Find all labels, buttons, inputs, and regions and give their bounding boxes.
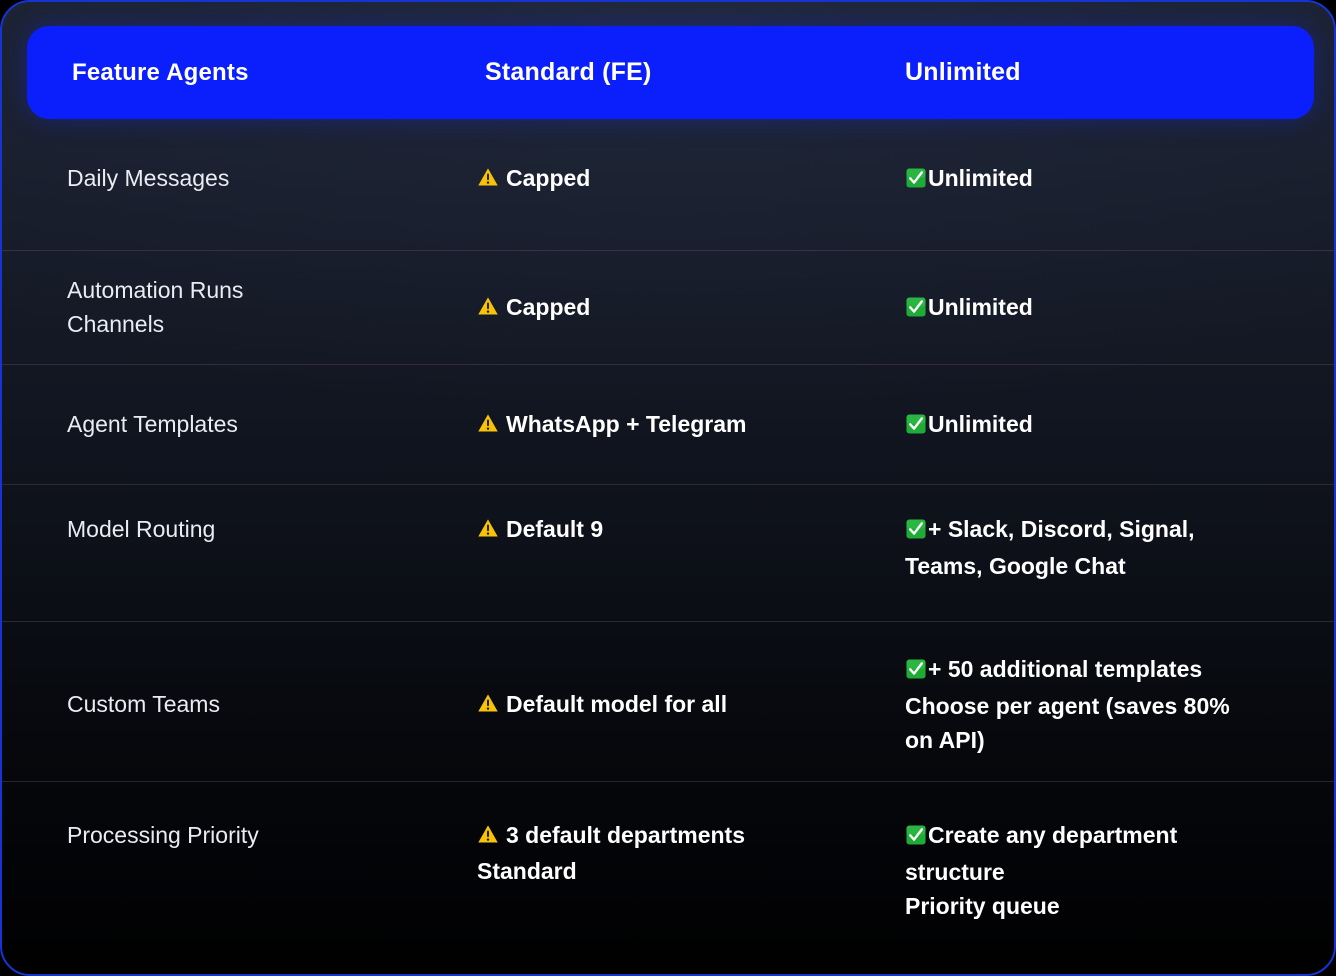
unlimited-plan-line: Create any department xyxy=(905,818,1305,855)
table-row: Daily MessagesCappedUnlimited xyxy=(2,119,1336,251)
standard-plan-line: Standard xyxy=(477,854,877,888)
table-row-inner: Daily MessagesCappedUnlimited xyxy=(2,119,1336,250)
table-row-inner: Processing Priority3 default departments… xyxy=(2,782,1336,976)
feature-name-cell: Agent Templates xyxy=(67,407,447,441)
feature-name-line: Custom Teams xyxy=(67,687,447,721)
green-check-box-icon xyxy=(905,821,927,855)
unlimited-plan-cell: Unlimited xyxy=(905,407,1305,444)
unlimited-plan-cell: + Slack, Discord, Signal,Teams, Google C… xyxy=(905,512,1305,583)
warning-triangle-icon xyxy=(477,514,499,548)
green-check-box-icon xyxy=(905,655,927,689)
feature-name-cell: Model Routing xyxy=(67,512,447,546)
standard-plan-cell: Capped xyxy=(477,161,877,197)
unlimited-plan-line: + Slack, Discord, Signal, xyxy=(905,512,1305,549)
table-header-band: Feature Agents Standard (FE) Unlimited xyxy=(27,26,1314,119)
unlimited-plan-cell: Unlimited xyxy=(905,161,1305,198)
feature-name-line: Automation Runs xyxy=(67,273,447,307)
unlimited-plan-line: Choose per agent (saves 80% xyxy=(905,689,1305,723)
feature-comparison-card: Feature Agents Standard (FE) Unlimited D… xyxy=(0,0,1336,976)
table-row: Processing Priority3 default departments… xyxy=(2,782,1336,976)
standard-plan-line: Capped xyxy=(477,290,877,326)
feature-name-line: Agent Templates xyxy=(67,407,447,441)
unlimited-plan-cell: Unlimited xyxy=(905,290,1305,327)
feature-name-cell: Automation RunsChannels xyxy=(67,273,447,341)
table-row: Agent TemplatesWhatsApp + TelegramUnlimi… xyxy=(2,365,1336,485)
warning-triangle-icon xyxy=(477,163,499,197)
standard-plan-line: Capped xyxy=(477,161,877,197)
standard-plan-cell: 3 default departmentsStandard xyxy=(477,818,877,888)
column-header-feature: Feature Agents xyxy=(72,26,249,119)
feature-name-line: Daily Messages xyxy=(67,161,447,195)
unlimited-plan-line: + 50 additional templates xyxy=(905,652,1305,689)
standard-plan-cell: WhatsApp + Telegram xyxy=(477,407,877,443)
unlimited-plan-cell: + 50 additional templatesChoose per agen… xyxy=(905,652,1305,757)
feature-name-line: Model Routing xyxy=(67,512,447,546)
unlimited-plan-line: Teams, Google Chat xyxy=(905,549,1305,583)
green-check-box-icon xyxy=(905,164,927,198)
warning-triangle-icon xyxy=(477,409,499,443)
unlimited-plan-line: Unlimited xyxy=(905,161,1305,198)
green-check-box-icon xyxy=(905,515,927,549)
standard-plan-line: WhatsApp + Telegram xyxy=(477,407,877,443)
table-row: Automation RunsChannelsCappedUnlimited xyxy=(2,251,1336,365)
unlimited-plan-line: Unlimited xyxy=(905,290,1305,327)
table-row: Model RoutingDefault 9+ Slack, Discord, … xyxy=(2,485,1336,622)
standard-plan-cell: Default 9 xyxy=(477,512,877,548)
standard-plan-line: 3 default departments xyxy=(477,818,877,854)
feature-name-cell: Daily Messages xyxy=(67,161,447,195)
warning-triangle-icon xyxy=(477,689,499,723)
green-check-box-icon xyxy=(905,410,927,444)
unlimited-plan-line: Priority queue xyxy=(905,889,1305,923)
table-row-inner: Model RoutingDefault 9+ Slack, Discord, … xyxy=(2,485,1336,621)
warning-triangle-icon xyxy=(477,292,499,326)
unlimited-plan-line: Unlimited xyxy=(905,407,1305,444)
standard-plan-cell: Default model for all xyxy=(477,687,877,723)
standard-plan-cell: Capped xyxy=(477,290,877,326)
table-body: Daily MessagesCappedUnlimitedAutomation … xyxy=(2,119,1336,976)
unlimited-plan-cell: Create any departmentstructurePriority q… xyxy=(905,818,1305,923)
green-check-box-icon xyxy=(905,293,927,327)
feature-name-line: Processing Priority xyxy=(67,818,447,852)
table-row: Custom TeamsDefault model for all+ 50 ad… xyxy=(2,622,1336,782)
standard-plan-line: Default 9 xyxy=(477,512,877,548)
feature-name-line: Channels xyxy=(67,307,447,341)
warning-triangle-icon xyxy=(477,820,499,854)
column-header-standard: Standard (FE) xyxy=(485,26,652,119)
standard-plan-line: Default model for all xyxy=(477,687,877,723)
column-header-unlimited: Unlimited xyxy=(905,26,1021,119)
feature-name-cell: Processing Priority xyxy=(67,818,447,852)
feature-name-cell: Custom Teams xyxy=(67,687,447,721)
unlimited-plan-line: structure xyxy=(905,855,1305,889)
table-row-inner: Agent TemplatesWhatsApp + TelegramUnlimi… xyxy=(2,365,1336,484)
unlimited-plan-line: on API) xyxy=(905,723,1305,757)
table-row-inner: Automation RunsChannelsCappedUnlimited xyxy=(2,251,1336,364)
table-row-inner: Custom TeamsDefault model for all+ 50 ad… xyxy=(2,622,1336,781)
